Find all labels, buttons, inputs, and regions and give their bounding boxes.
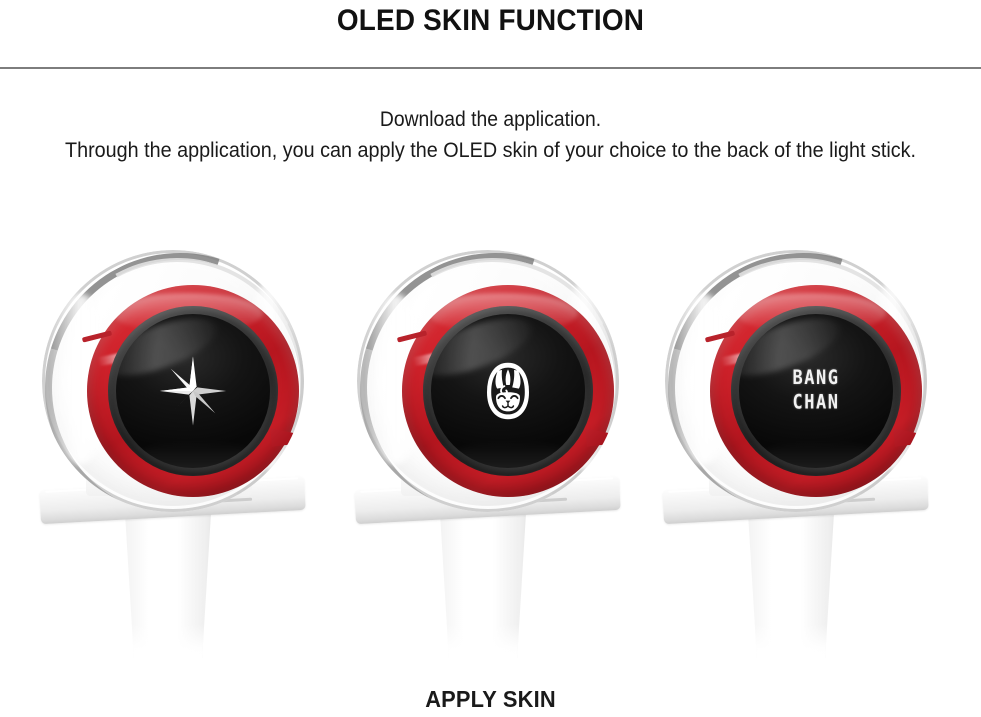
light-stick-center bbox=[337, 240, 637, 665]
clear-sphere-shell bbox=[357, 250, 619, 512]
footer-caption: APPLY SKIN bbox=[25, 686, 957, 713]
inner-bezel: BANG CHAN bbox=[731, 306, 901, 476]
light-stick-handle bbox=[730, 498, 852, 658]
inner-bezel bbox=[423, 306, 593, 476]
oled-skin-content: BANG CHAN bbox=[739, 314, 893, 468]
oled-screen[interactable] bbox=[116, 314, 270, 468]
wolf-mascot-icon bbox=[484, 361, 532, 421]
light-stick-handle bbox=[107, 498, 229, 658]
inner-bezel bbox=[108, 306, 278, 476]
compass-star-icon bbox=[157, 355, 229, 427]
oled-skin-text-line-2: CHAN bbox=[793, 391, 840, 415]
light-stick-row: BANG CHAN bbox=[0, 240, 981, 665]
oled-skin-content bbox=[116, 314, 270, 468]
clear-sphere-shell bbox=[42, 250, 304, 512]
description-block: Download the application. Through the ap… bbox=[0, 104, 981, 166]
oled-skin-text: BANG CHAN bbox=[793, 367, 840, 415]
oled-screen[interactable] bbox=[431, 314, 585, 468]
oled-screen[interactable]: BANG CHAN bbox=[739, 314, 893, 468]
page-title: OLED SKIN FUNCTION bbox=[34, 4, 946, 38]
light-stick-right: BANG CHAN bbox=[645, 240, 945, 665]
description-line-2: Through the application, you can apply t… bbox=[39, 135, 942, 166]
light-stick-handle bbox=[422, 498, 544, 658]
clear-sphere-shell: BANG CHAN bbox=[665, 250, 927, 512]
oled-skin-text-line-1: BANG bbox=[793, 367, 840, 391]
light-stick-left bbox=[22, 240, 322, 665]
description-line-1: Download the application. bbox=[39, 104, 942, 135]
oled-skin-content bbox=[431, 314, 585, 468]
header-divider bbox=[0, 67, 981, 69]
